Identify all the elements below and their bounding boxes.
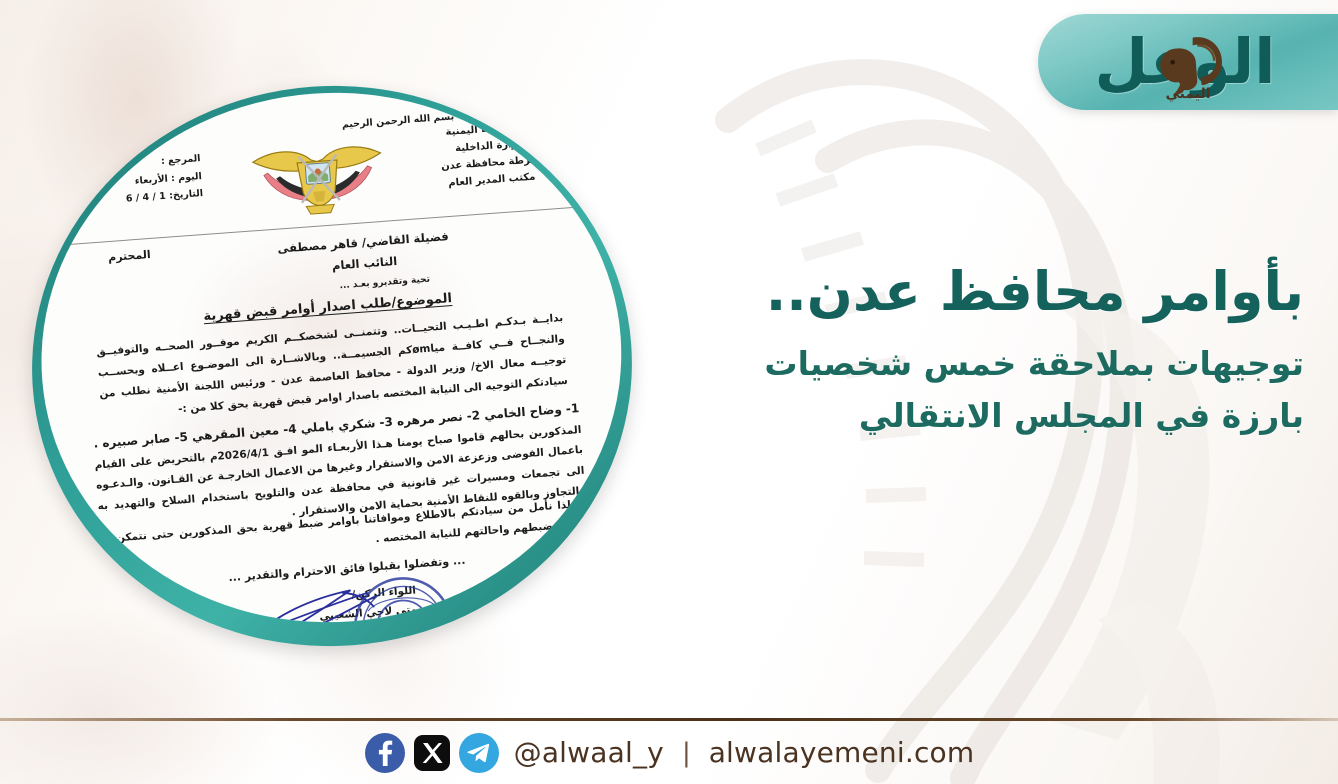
yemen-eagle-emblem-icon	[239, 126, 397, 223]
headline-block: بأوامر محافظ عدن.. توجيهات بملاحقة خمس ش…	[714, 262, 1304, 441]
footer-separator: |	[678, 738, 695, 768]
footer-bar: @alwaal_y | alwalayemeni.com	[0, 721, 1338, 784]
document-reference-box: المرجع : اليوم : الأربعاء التاريخ: 1 / 4…	[72, 150, 204, 212]
document-page: بسم الله الرحمن الرحيم الجمهورية اليمنية…	[23, 72, 640, 642]
subject-label: الموضوع/	[391, 291, 452, 310]
x-twitter-icon[interactable]	[411, 732, 453, 774]
website-url[interactable]: alwalayemeni.com	[709, 736, 975, 769]
headline-main: بأوامر محافظ عدن..	[714, 262, 1304, 322]
news-card-canvas: الوعل اليمني بأوامر محافظ عدن.. توجيهات …	[0, 0, 1338, 784]
headline-sub: توجيهات بملاحقة خمس شخصيات بارزة في المج…	[714, 338, 1304, 440]
document-letterhead: بسم الله الرحمن الرحيم الجمهورية اليمنية…	[59, 101, 577, 242]
document-respect-note: المحترم	[89, 247, 170, 268]
headline-sub-line-1: توجيهات بملاحقة خمس شخصيات	[714, 338, 1304, 389]
facebook-icon[interactable]	[364, 732, 406, 774]
social-links	[364, 732, 500, 774]
document-addressee: فضيلة القاضي/ قاهر مصطفى النائب العام	[233, 223, 495, 284]
social-handle[interactable]: @alwaal_y	[514, 736, 664, 769]
official-letter-scan[interactable]: بسم الله الرحمن الرحيم الجمهورية اليمنية…	[12, 65, 651, 667]
document-greeting: تحية وتقديرو بعـد ...	[339, 274, 430, 293]
document-organization: الجمهورية اليمنية وزارة الداخلية شرطة مح…	[413, 115, 568, 194]
subject-text: طلب اصدار أوامر قبض قهرية	[203, 295, 392, 324]
telegram-icon[interactable]	[458, 732, 500, 774]
site-logo-subtitle: اليمني	[1165, 86, 1210, 102]
headline-sub-line-2: بارزة في المجلس الانتقالي	[714, 390, 1304, 441]
site-logo-badge[interactable]: الوعل اليمني	[1038, 14, 1338, 110]
document-content: بسم الله الرحمن الرحيم الجمهورية اليمنية…	[23, 72, 640, 642]
